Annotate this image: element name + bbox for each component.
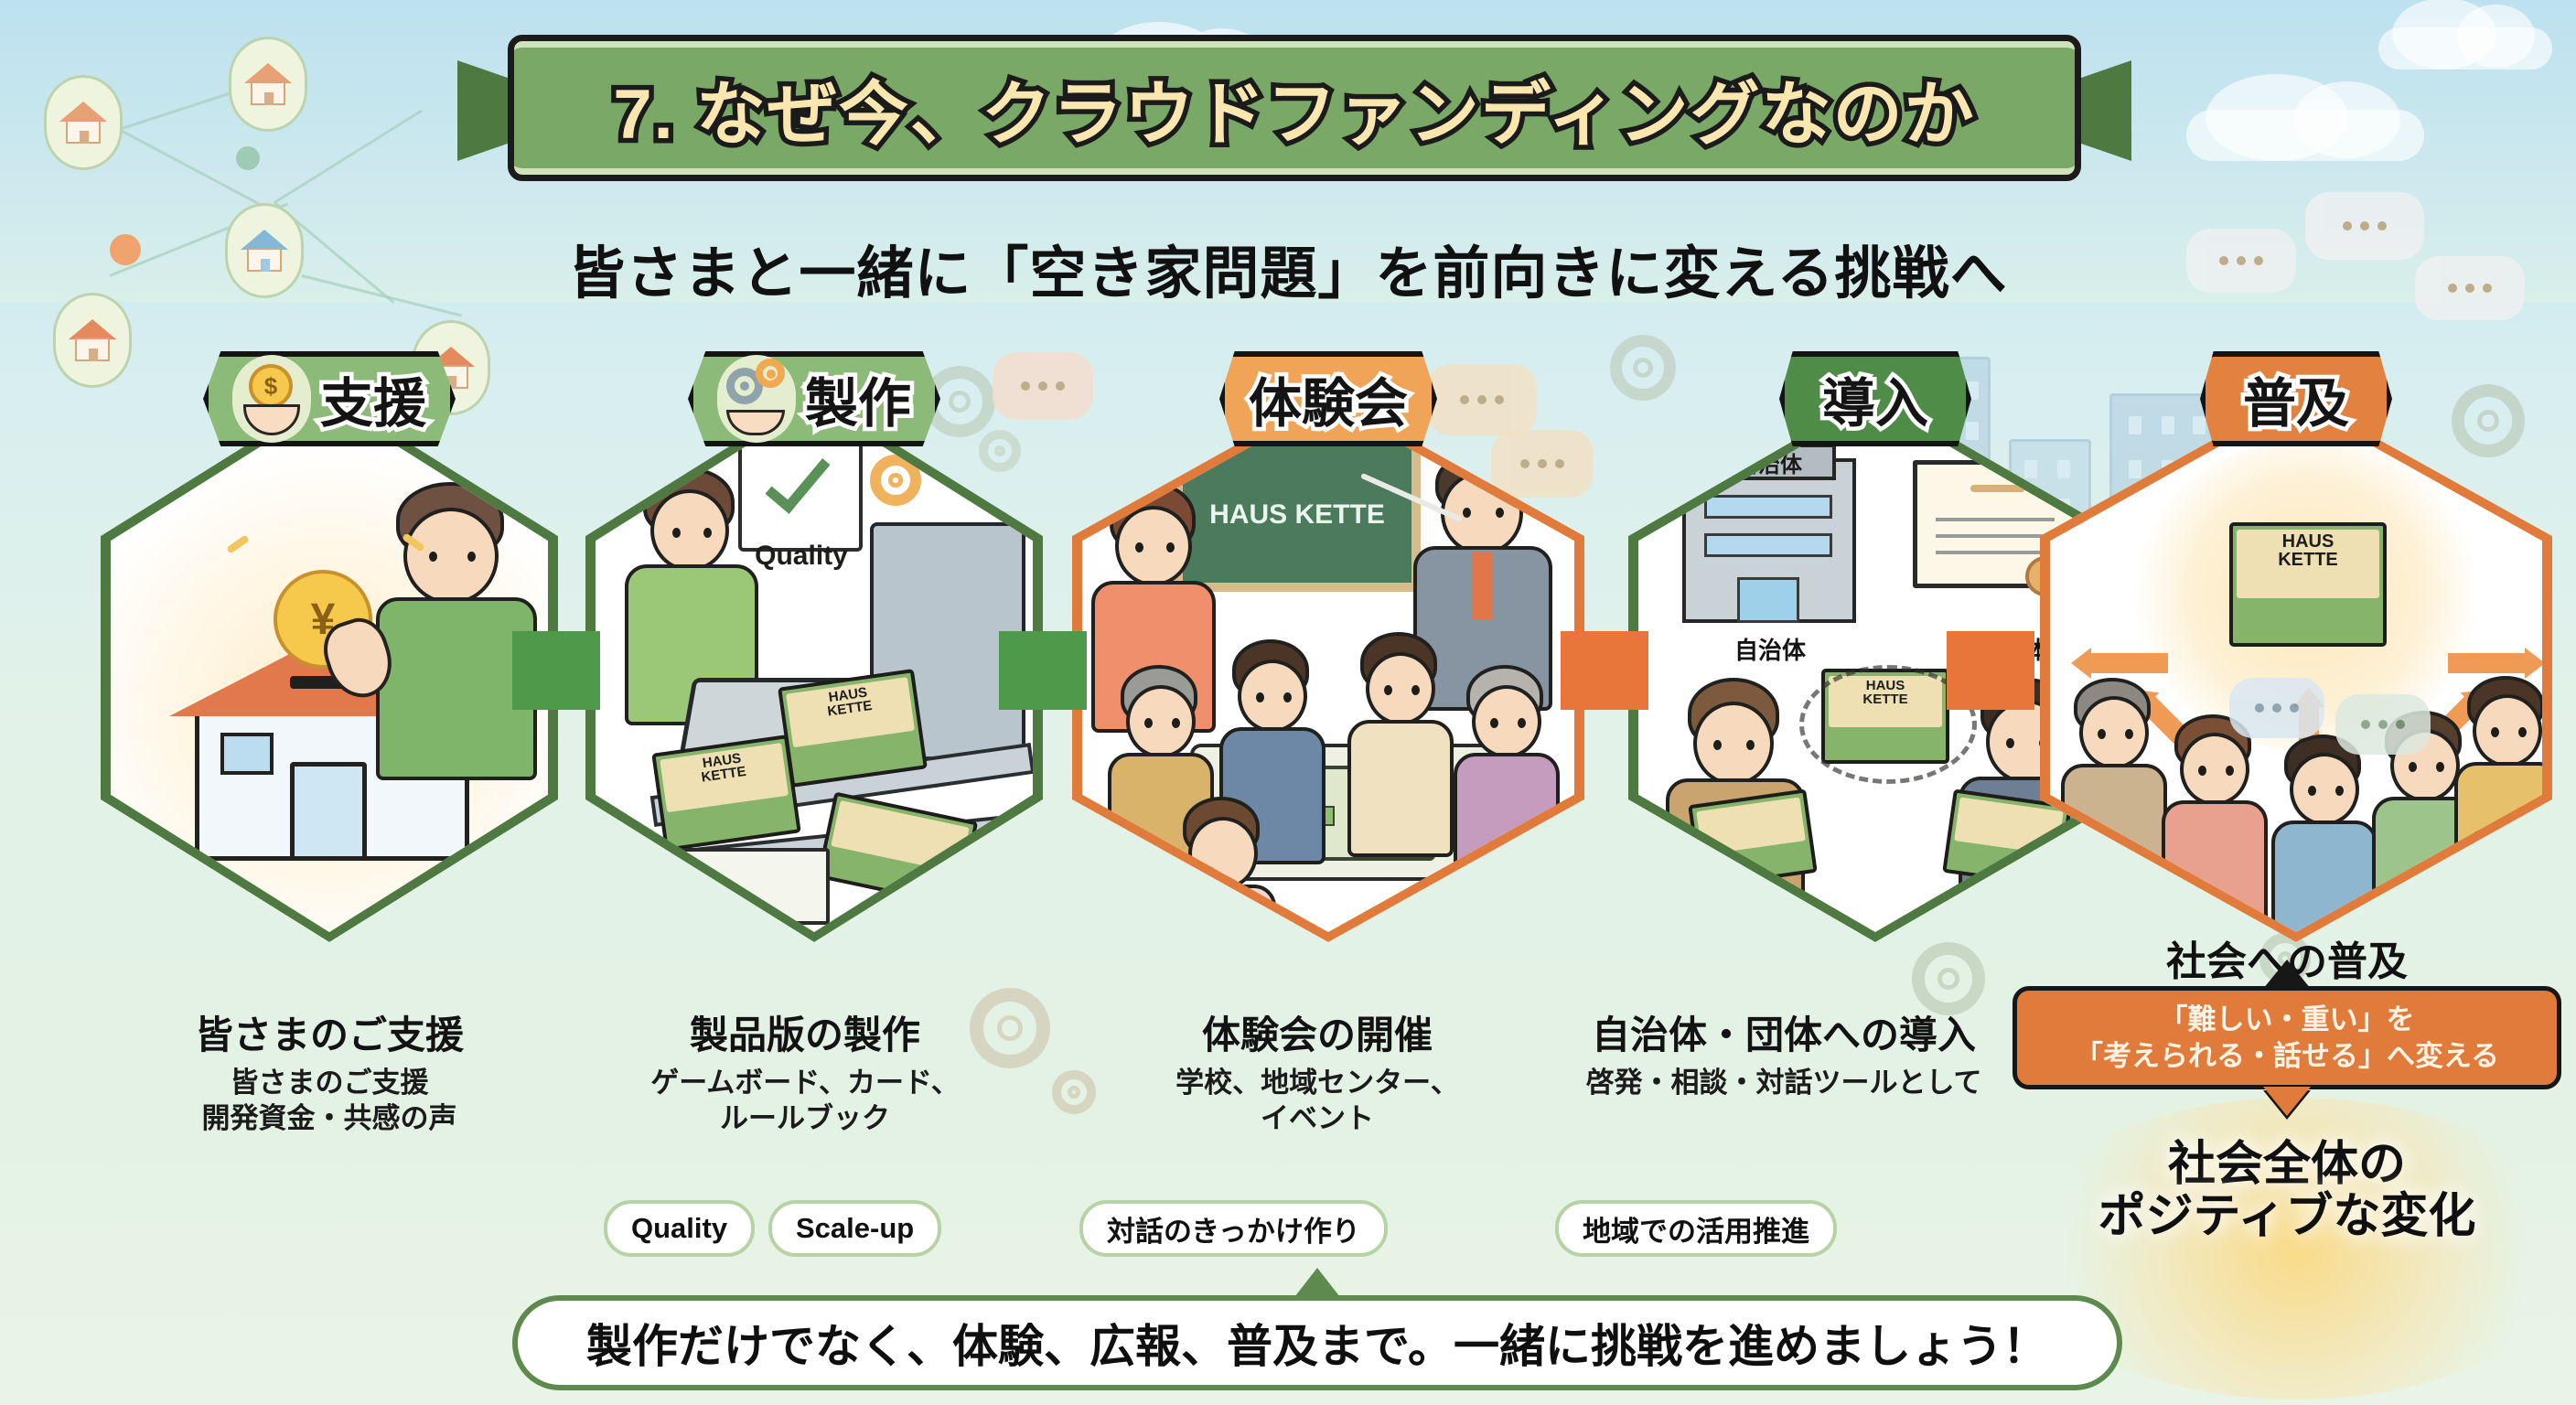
caption-sub: 啓発・相談・対話ツールとして — [1500, 1066, 2067, 1101]
gears-on-hand-icon — [717, 355, 796, 443]
pill-quality[interactable]: Quality — [604, 1200, 755, 1257]
page-subtitle: 皆さまと一緒に「空き家問題」を前向きに変える挑戦へ — [0, 227, 2576, 309]
ribbon-body: 7. なぜ今、クラウドファンディングなのか — [508, 35, 2081, 181]
stage-4-caption: 自治体・団体への導入 啓発・相談・対話ツールとして — [1500, 1004, 2067, 1101]
stage-1-support[interactable]: ¥ $ 支援 — [101, 393, 558, 942]
speech-bubble — [2229, 678, 2324, 738]
hex-inner: HAUS KETTE — [1082, 403, 1574, 932]
flow-arrow-1 — [512, 631, 600, 710]
pill-dialogue[interactable]: 対話のきっかけ作り — [1079, 1200, 1388, 1257]
product-box: HAUSKETTE — [2229, 522, 2387, 647]
participant-person — [1170, 797, 1280, 932]
stage-badge-workshop[interactable]: 体験会 — [1219, 351, 1437, 446]
flow-arrow-4 — [1947, 631, 2034, 710]
outcome-line: 社会全体の — [2040, 1139, 2534, 1191]
callout-line: 「考えられる・話せる」へ変える — [2032, 1038, 2542, 1075]
stage-5-outcome: 社会全体の ポジティブな変化 — [2040, 1139, 2534, 1243]
pill-scaleup[interactable]: Scale-up — [768, 1200, 941, 1257]
stage-badge-diffusion[interactable]: 普及 — [2200, 351, 2392, 446]
stage-2-caption: 製品版の製作 ゲームボード、カード、 ルールブック — [549, 1004, 1061, 1137]
footer-banner-text: 製作だけでなく、体験、広報、普及まで。一緒に挑戦を進めましょう！ — [586, 1310, 2048, 1376]
crowd-person — [2061, 678, 2171, 897]
stage-badge-support[interactable]: $ 支援 — [203, 351, 456, 446]
crowd-person — [2454, 676, 2542, 896]
stage-badge-label: 支援 — [320, 360, 426, 437]
adoption-label-municipal: 自治体 — [1697, 632, 1843, 666]
product-box: HAUSKETTE — [778, 669, 928, 788]
hex-inner: Quality HAUSKETTE HAUSKETTE — [596, 403, 1033, 932]
caption-sub: 学校、地域センター、 イベント — [1061, 1066, 1573, 1137]
participant-person — [1347, 632, 1457, 861]
title-ribbon: 7. なぜ今、クラウドファンディングなのか — [457, 18, 2131, 192]
callout-line: 「難しい・重い」を — [2032, 1002, 2542, 1038]
caption-sub: ゲームボード、カード、 ルールブック — [549, 1066, 1061, 1137]
cloud-shape — [2378, 27, 2552, 70]
stage-badge-label: 導入 — [1822, 360, 1928, 437]
caption-title: 自治体・団体への導入 — [1500, 1004, 2067, 1060]
stage-1-caption: 皆さまのご支援 皆さまのご支援 開発資金・共感の声 — [73, 1004, 585, 1137]
hex-inner: ¥ — [111, 403, 548, 932]
stage-3-workshop[interactable]: HAUS KETTE — [1072, 393, 1584, 942]
page-title: 7. なぜ今、クラウドファンディングなのか — [613, 58, 1975, 158]
flow-arrow-2 — [999, 631, 1087, 710]
stage-badge-label: 製作 — [805, 360, 911, 437]
hex-frame: HAUSKETTE — [2040, 393, 2552, 942]
coin-in-hands-icon: $ — [232, 355, 311, 443]
footer-banner: 製作だけでなく、体験、広報、普及まで。一緒に挑戦を進めましょう！ — [512, 1295, 2122, 1390]
product-box: HAUSKETTE — [651, 735, 801, 852]
cloud-shape — [2186, 110, 2424, 161]
stage-3-caption: 体験会の開催 学校、地域センター、 イベント — [1061, 1004, 1573, 1137]
caption-sub: 皆さまのご支援 開発資金・共感の声 — [73, 1066, 585, 1137]
stage-2-production[interactable]: Quality HAUSKETTE HAUSKETTE — [585, 393, 1043, 942]
radiating-arrow — [2448, 653, 2527, 673]
caption-title: 体験会の開催 — [1061, 1004, 1573, 1060]
stage-badge-adoption[interactable]: 導入 — [1779, 351, 1971, 446]
hex-frame: Quality HAUSKETTE HAUSKETTE — [585, 393, 1043, 942]
radiating-arrow — [2089, 653, 2168, 673]
caption-title: 製品版の製作 — [549, 1004, 1061, 1060]
stage-badge-label: 普及 — [2243, 360, 2349, 437]
stage-5-diffusion[interactable]: HAUSKETTE — [2040, 393, 2552, 942]
hex-frame: HAUS KETTE — [1072, 393, 1584, 942]
stage-badge-label: 体験会 — [1249, 360, 1408, 437]
pill-regional[interactable]: 地域での活用推進 — [1555, 1200, 1837, 1257]
stage-badge-production[interactable]: 製作 — [688, 351, 940, 446]
hex-frame: ¥ — [101, 393, 558, 942]
gear-icon — [1610, 335, 1676, 401]
hex-inner: HAUSKETTE — [2050, 403, 2542, 932]
stage-5-callout: 「難しい・重い」を 「考えられる・話せる」へ変える — [2012, 986, 2561, 1089]
chalkboard-text: HAUS KETTE — [1209, 499, 1385, 530]
caption-title: 皆さまのご支援 — [73, 1004, 585, 1060]
speech-bubble — [2335, 694, 2431, 755]
outcome-line: ポジティブな変化 — [2040, 1191, 2534, 1243]
flow-arrow-3 — [1561, 631, 1648, 710]
